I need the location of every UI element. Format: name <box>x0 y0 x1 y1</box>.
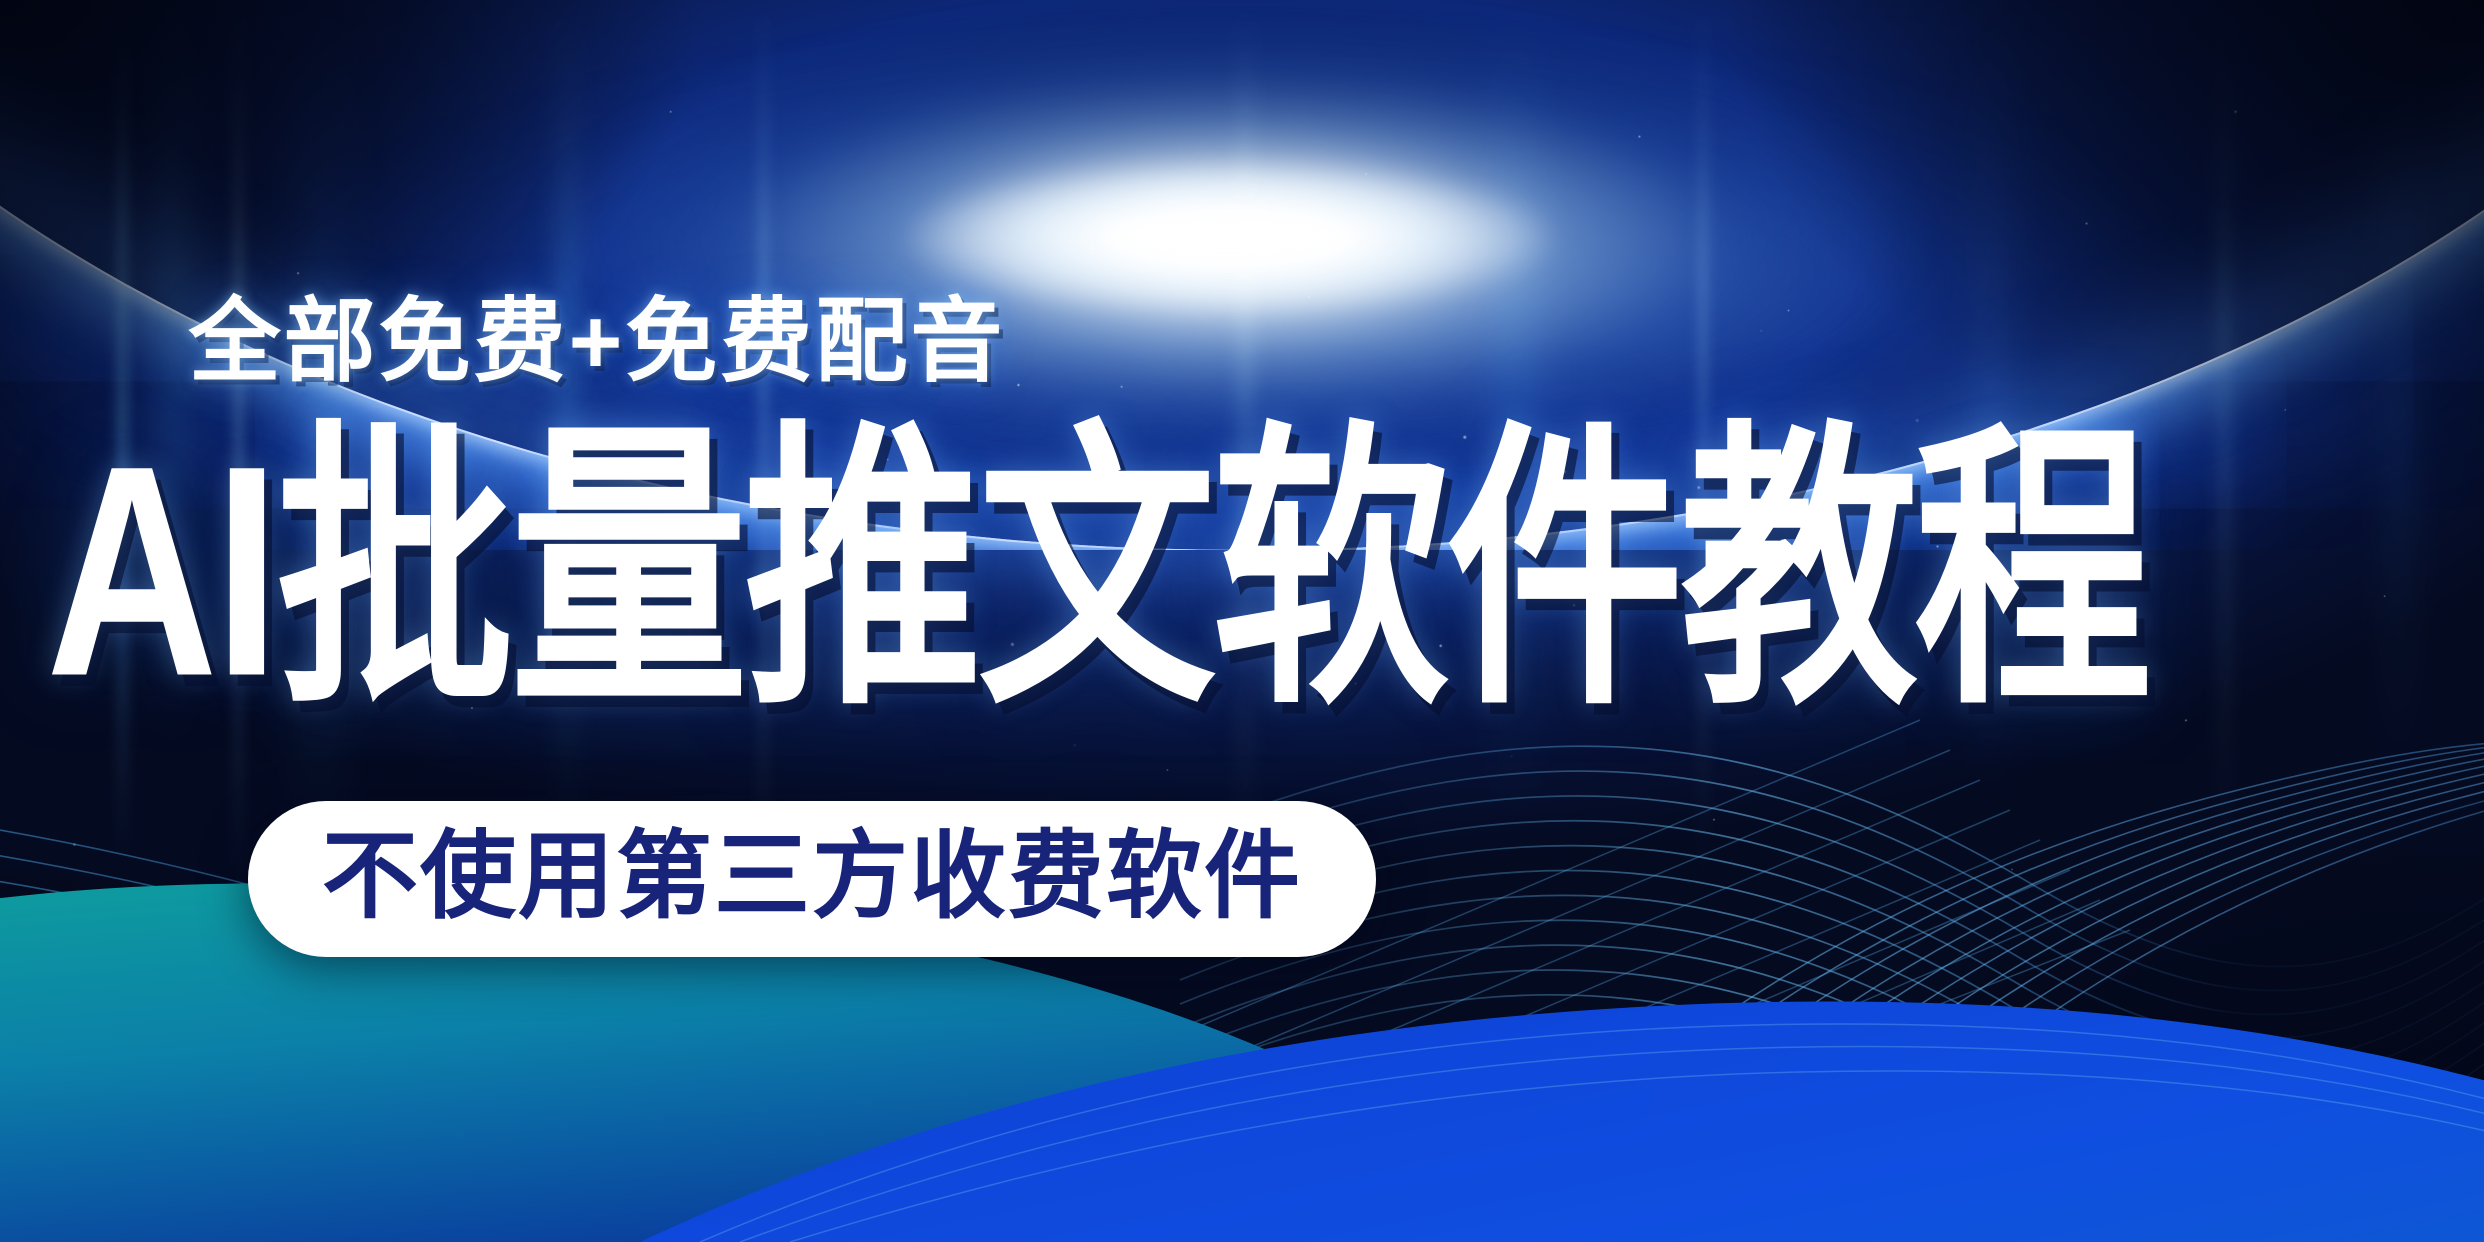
feature-badge-label: 不使用第三方收费软件 <box>322 829 1302 925</box>
poster-subtitle: 全部免费+免费配音 <box>0 296 2484 388</box>
headline-block: 全部免费+免费配音 AI批量推文软件教程 不使用第三方收费软件 <box>0 0 2484 1242</box>
feature-badge: 不使用第三方收费软件 <box>248 801 1376 957</box>
poster-canvas: 全部免费+免费配音 AI批量推文软件教程 不使用第三方收费软件 <box>0 0 2484 1242</box>
poster-title: AI批量推文软件教程 <box>46 420 2446 726</box>
